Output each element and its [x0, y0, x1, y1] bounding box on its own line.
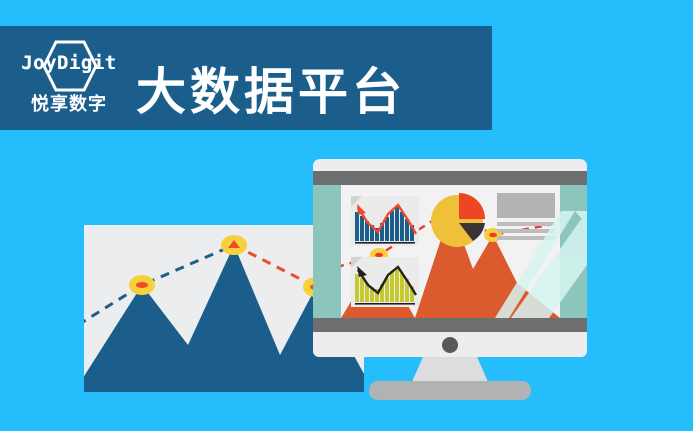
- data-point-marker: [129, 275, 155, 295]
- desktop-monitor: [313, 159, 587, 387]
- text-placeholder-block: [497, 193, 555, 241]
- data-point-marker: [221, 235, 247, 255]
- header-banner: JoyDigit 悦享数字 大数据平台: [0, 26, 492, 130]
- monitor-stand-neck: [313, 357, 587, 384]
- monitor-screen: [313, 185, 587, 318]
- pie-chart: [429, 193, 485, 249]
- logo-wordmark: JoyDigit: [14, 52, 124, 74]
- illustration-canvas: JoyDigit 悦享数字 大数据平台: [0, 0, 693, 431]
- bar-chart-card-blue: [351, 196, 419, 246]
- monitor-top-bar: [313, 171, 587, 185]
- bar-chart-card-yellow: [351, 257, 419, 307]
- brand-logo: JoyDigit 悦享数字: [14, 38, 124, 120]
- power-button[interactable]: [442, 337, 458, 353]
- logo-subtitle: 悦享数字: [14, 90, 124, 116]
- monitor-bottom-bar: [313, 318, 587, 332]
- monitor-stand-base: [369, 381, 531, 400]
- dashboard-viewport: [341, 185, 560, 318]
- page-title: 大数据平台: [136, 66, 406, 118]
